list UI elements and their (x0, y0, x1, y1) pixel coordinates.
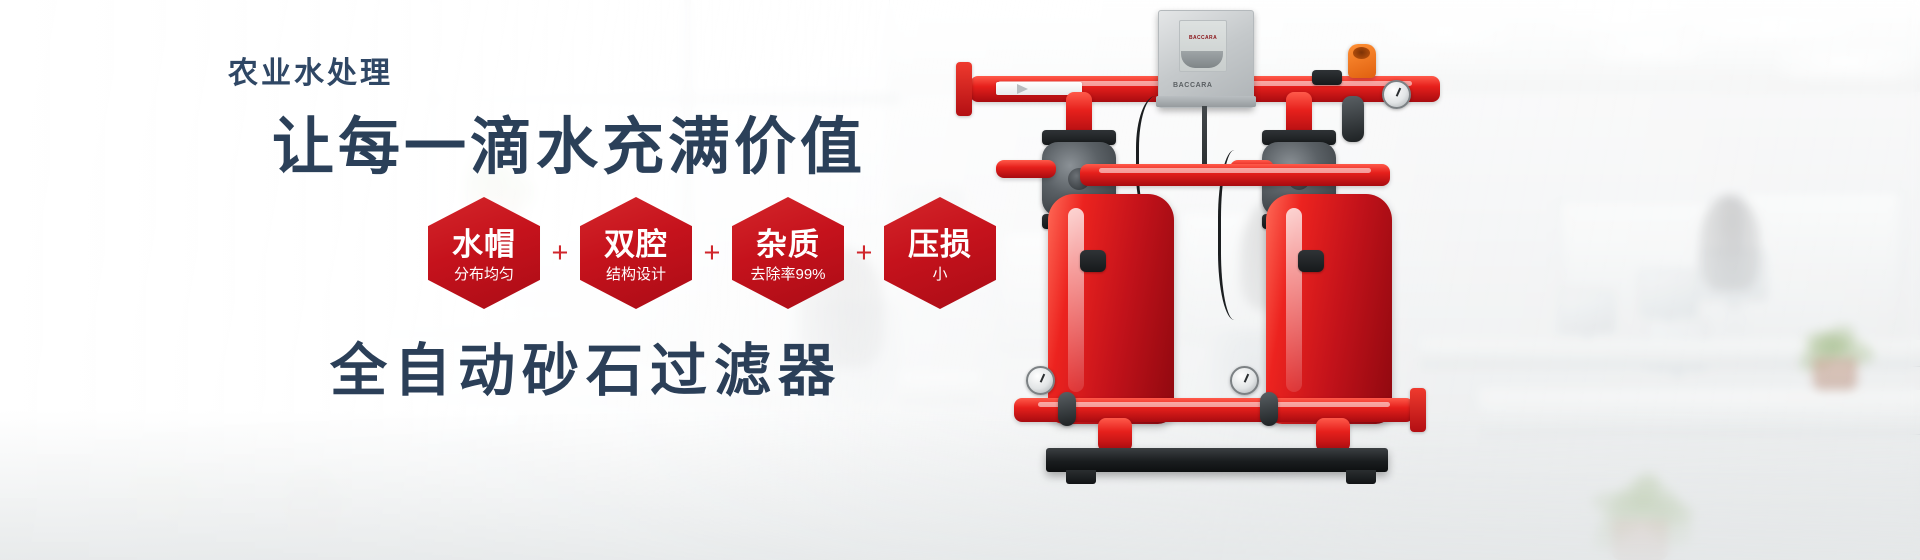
feature-badge-text: 双腔 结构设计 (604, 225, 668, 282)
promo-banner: BACCARA BACCARA (0, 0, 1920, 560)
feature-badge-title: 双腔 (604, 229, 668, 260)
mid-manifold-pipe (1080, 164, 1390, 186)
controller-brand-label: BACCARA (1173, 82, 1213, 89)
controller-box: BACCARA BACCARA (1158, 10, 1254, 108)
pressure-gauge (1230, 366, 1259, 395)
feature-badge-subtitle: 分布均匀 (452, 267, 516, 282)
feature-badge[interactable]: 压损 小 (884, 197, 996, 309)
feature-badge-subtitle: 小 (908, 267, 972, 282)
feature-badge-text: 压损 小 (908, 225, 972, 282)
feature-badge-subtitle: 结构设计 (604, 267, 668, 282)
tank-clamp (1080, 250, 1106, 272)
feature-badge[interactable]: 水帽 分布均匀 (428, 197, 540, 309)
filter-tank (1266, 194, 1392, 424)
pipe-highlight (1038, 402, 1390, 407)
pipe-flange (1410, 388, 1426, 432)
drain-valve (1058, 392, 1076, 426)
tank-leg (1098, 418, 1132, 452)
pipe-highlight (1099, 168, 1372, 173)
plus-separator: + (540, 239, 580, 268)
feature-badge-text: 水帽 分布均匀 (452, 225, 516, 282)
tank-leg (1316, 418, 1350, 452)
pressure-gauge (1026, 366, 1055, 395)
manual-valve (1342, 96, 1364, 142)
controller-logo: BACCARA (1189, 35, 1217, 41)
plus-separator: + (692, 239, 732, 268)
pipe-collar (1312, 70, 1342, 85)
plus-separator: + (844, 239, 884, 268)
base-foot (1066, 470, 1096, 484)
feature-badge-subtitle: 去除率99% (750, 267, 825, 282)
feature-badge[interactable]: 杂质 去除率99% (732, 197, 844, 309)
banner-eyebrow: 农业水处理 (228, 48, 393, 92)
tank-clamp (1298, 250, 1324, 272)
banner-headline: 让每一滴水充满价值 (272, 96, 866, 186)
feature-badge[interactable]: 双腔 结构设计 (580, 197, 692, 309)
pressure-gauge (1382, 80, 1411, 109)
feature-badge-title: 水帽 (452, 229, 516, 260)
banner-subheadline: 全自动砂石过滤器 (330, 325, 842, 407)
controller-knob (1181, 51, 1223, 68)
filter-tank (1048, 194, 1174, 424)
drain-valve (1260, 392, 1278, 426)
feature-badge-row: 水帽 分布均匀 + 双腔 结构设计 + 杂质 去除率99% + 压损 小 (428, 197, 996, 309)
equipment-base-frame (1046, 448, 1388, 472)
product-image-sand-filter: BACCARA BACCARA (930, 0, 1550, 560)
base-foot (1346, 470, 1376, 484)
feature-badge-title: 压损 (908, 229, 972, 260)
feature-badge-text: 杂质 去除率99% (750, 225, 825, 282)
pipe-flange (956, 62, 972, 116)
air-release-valve (1348, 44, 1376, 78)
side-pipe (996, 160, 1056, 178)
feature-badge-title: 杂质 (750, 229, 825, 260)
